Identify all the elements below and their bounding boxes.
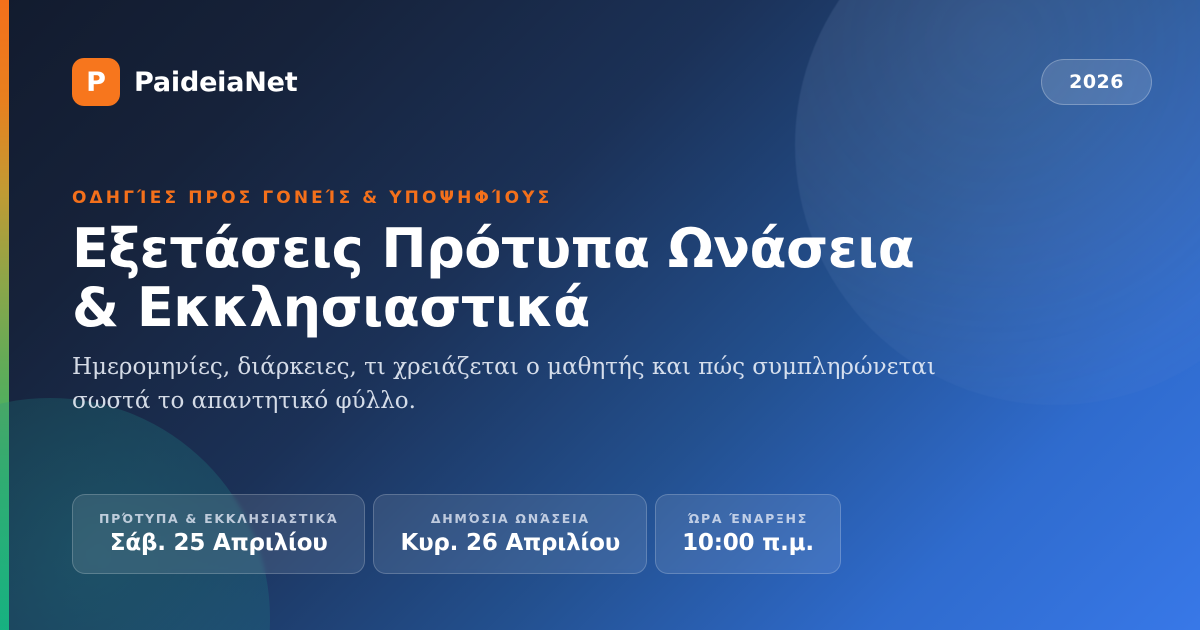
eyebrow-label: ΟΔΗΓΊΕΣ ΠΡΟΣ ΓΟΝΕΊΣ & ΥΠΟΨΗΦΊΟΥΣ — [72, 188, 1032, 208]
fact-card: ΠΡΌΤΥΠΑ & ΕΚΚΛΗΣΙΑΣΤΙΚΆ Σάβ. 25 Απριλίου — [72, 494, 365, 574]
hero-banner: P PaideiaNet 2026 ΟΔΗΓΊΕΣ ΠΡΟΣ ΓΟΝΕΊΣ & … — [0, 0, 1200, 630]
fact-value: 10:00 π.μ. — [682, 530, 814, 556]
banner-header: P PaideiaNet 2026 — [72, 58, 1152, 106]
fact-label: ΠΡΌΤΥΠΑ & ΕΚΚΛΗΣΙΑΣΤΙΚΆ — [99, 511, 338, 526]
fact-value: Κυρ. 26 Απριλίου — [400, 530, 620, 556]
fact-value: Σάβ. 25 Απριλίου — [99, 530, 338, 556]
year-badge: 2026 — [1041, 59, 1152, 105]
fact-label: ΏΡΑ ΈΝΑΡΞΗΣ — [682, 511, 814, 526]
fact-label: ΔΗΜΌΣΙΑ ΩΝΆΣΕΙΑ — [400, 511, 620, 526]
fact-card: ΏΡΑ ΈΝΑΡΞΗΣ 10:00 π.μ. — [655, 494, 841, 574]
brand-logo[interactable]: P PaideiaNet — [72, 58, 297, 106]
hero-content: ΟΔΗΓΊΕΣ ΠΡΟΣ ΓΟΝΕΊΣ & ΥΠΟΨΗΦΊΟΥΣ Εξετάσε… — [72, 188, 1032, 419]
hero-subtitle: Ημερομηνίες, διάρκειες, τι χρειάζεται ο … — [72, 351, 1002, 419]
page-title: Εξετάσεις Πρότυπα Ωνάσεια & Εκκλησιαστικ… — [72, 220, 952, 337]
fact-card: ΔΗΜΌΣΙΑ ΩΝΆΣΕΙΑ Κυρ. 26 Απριλίου — [373, 494, 647, 574]
fact-card-list: ΠΡΌΤΥΠΑ & ΕΚΚΛΗΣΙΑΣΤΙΚΆ Σάβ. 25 Απριλίου… — [72, 494, 841, 574]
logo-mark-icon: P — [72, 58, 120, 106]
brand-name: PaideiaNet — [134, 67, 297, 98]
